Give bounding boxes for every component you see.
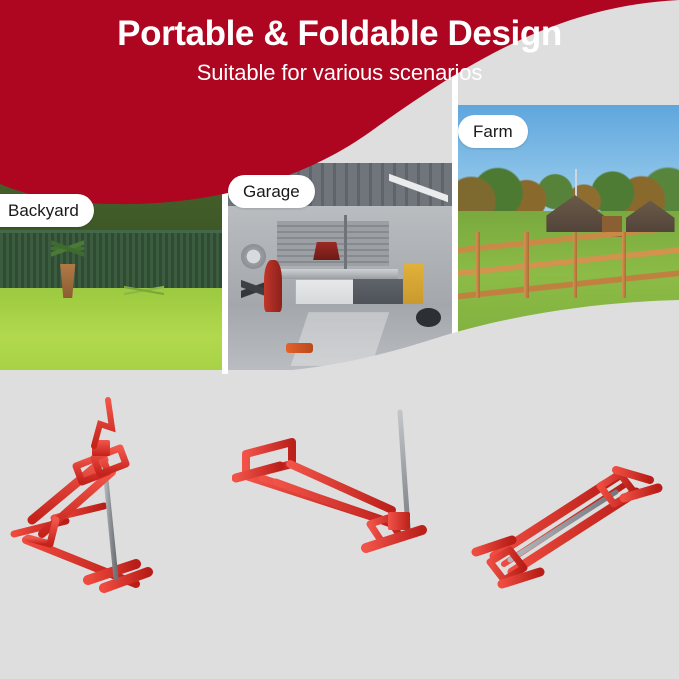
page-subtitle: Suitable for various scenarios xyxy=(0,54,679,86)
header-text-block: Portable & Foldable Design Suitable for … xyxy=(0,0,679,86)
scene-label-text: Farm xyxy=(473,123,513,140)
scene-label-text: Garage xyxy=(243,183,300,200)
product-feature-banner: Portable & Foldable Design Suitable for … xyxy=(0,0,679,679)
scene-label-text: Backyard xyxy=(8,202,79,219)
scene-label-backyard: Backyard xyxy=(0,194,94,227)
scene-label-farm: Farm xyxy=(458,115,528,148)
product-fold-sequence xyxy=(0,382,679,679)
scene-label-garage: Garage xyxy=(228,175,315,208)
mower-lift-folded xyxy=(468,444,668,604)
mower-lift-upright xyxy=(8,388,208,618)
page-title: Portable & Foldable Design xyxy=(0,0,679,54)
mower-lift-flat xyxy=(232,408,440,608)
